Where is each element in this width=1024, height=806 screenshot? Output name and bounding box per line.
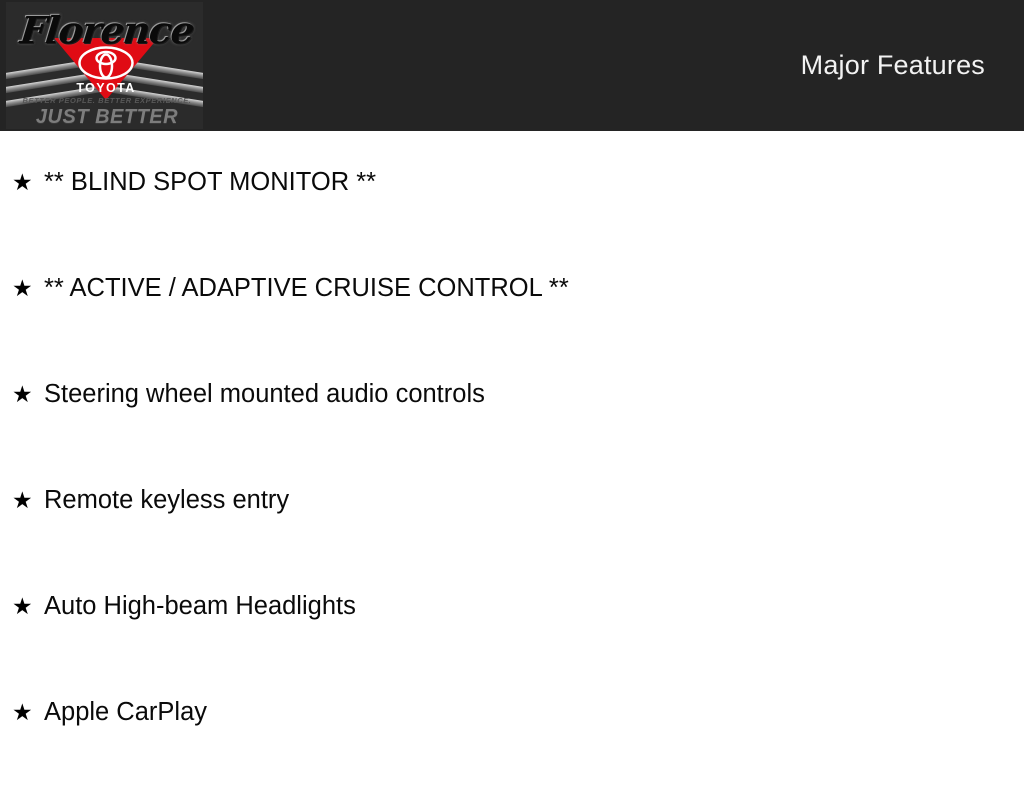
page-header: TOYOTA Florence BETTER PEOPLE. BETTER EX… bbox=[0, 0, 1024, 131]
logo-tagline-top: BETTER PEOPLE. BETTER EXPERIENCE. bbox=[16, 96, 198, 105]
logo-tagline-main: JUST BETTER bbox=[16, 106, 198, 129]
dealer-logo[interactable]: TOYOTA Florence BETTER PEOPLE. BETTER EX… bbox=[6, 2, 203, 129]
star-icon: ★ bbox=[12, 383, 44, 406]
florence-script-wordmark: Florence bbox=[14, 8, 201, 52]
feature-label: ** BLIND SPOT MONITOR ** bbox=[44, 170, 376, 196]
list-item: ★ Remote keyless entry bbox=[0, 488, 1024, 594]
feature-label: Auto High-beam Headlights bbox=[44, 594, 356, 620]
list-item: ★ Steering wheel mounted audio controls bbox=[0, 382, 1024, 488]
list-item: ★ Apple CarPlay bbox=[0, 700, 1024, 806]
logo-artwork: TOYOTA Florence BETTER PEOPLE. BETTER EX… bbox=[6, 2, 203, 129]
star-icon: ★ bbox=[12, 595, 44, 618]
feature-label: Apple CarPlay bbox=[44, 700, 207, 726]
page-title: Major Features bbox=[801, 50, 985, 81]
star-icon: ★ bbox=[12, 701, 44, 724]
features-list: ★ ** BLIND SPOT MONITOR ** ★ ** ACTIVE /… bbox=[0, 131, 1024, 806]
list-item: ★ ** BLIND SPOT MONITOR ** bbox=[0, 131, 1024, 276]
star-icon: ★ bbox=[12, 489, 44, 512]
star-icon: ★ bbox=[12, 171, 44, 194]
toyota-wordmark: TOYOTA bbox=[54, 81, 158, 95]
list-item: ★ Auto High-beam Headlights bbox=[0, 594, 1024, 700]
feature-label: Remote keyless entry bbox=[44, 488, 289, 514]
feature-label: ** ACTIVE / ADAPTIVE CRUISE CONTROL ** bbox=[44, 276, 569, 302]
star-icon: ★ bbox=[12, 277, 44, 300]
feature-label: Steering wheel mounted audio controls bbox=[44, 382, 485, 408]
list-item: ★ ** ACTIVE / ADAPTIVE CRUISE CONTROL ** bbox=[0, 276, 1024, 382]
